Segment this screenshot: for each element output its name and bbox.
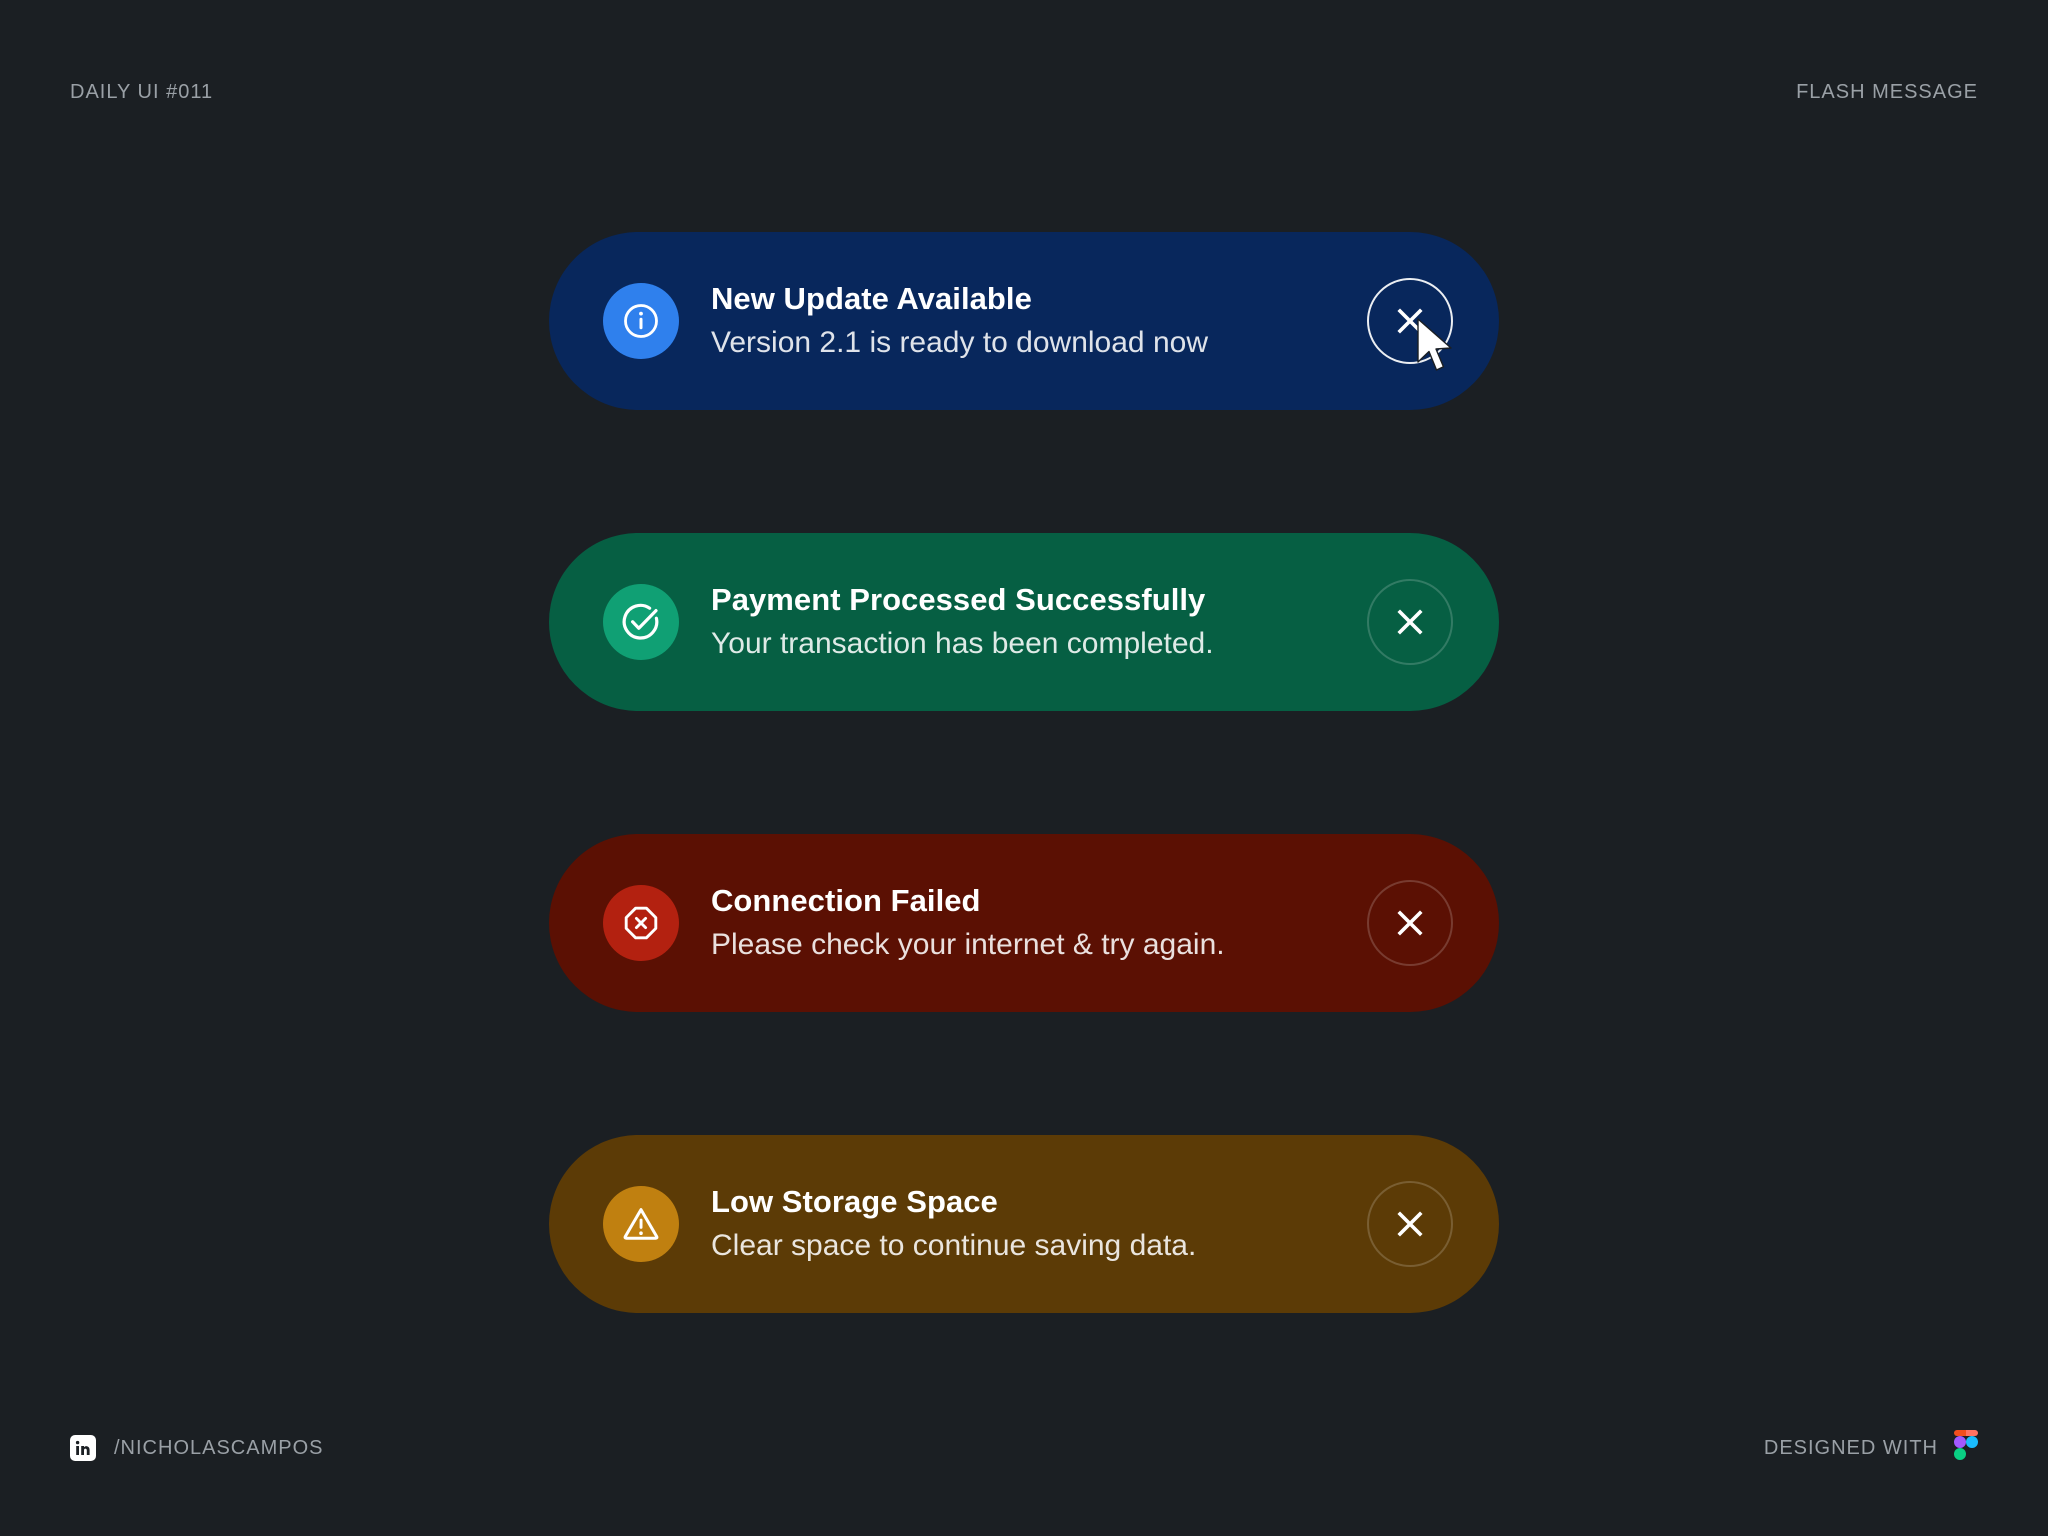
toast-success: Payment Processed Successfully Your tran… bbox=[549, 533, 1499, 711]
toast-text-group: New Update Available Version 2.1 is read… bbox=[711, 280, 1367, 362]
toast-text-group: Connection Failed Please check your inte… bbox=[711, 882, 1367, 964]
designed-with-label: DESIGNED WITH bbox=[1764, 1437, 1938, 1460]
toast-title: New Update Available bbox=[711, 280, 1367, 318]
toast-subtitle: Version 2.1 is ready to download now bbox=[711, 323, 1367, 362]
header: DAILY UI #011 FLASH MESSAGE bbox=[0, 78, 2048, 106]
toast-subtitle: Your transaction has been completed. bbox=[711, 624, 1367, 663]
linkedin-handle[interactable]: /NICHOLASCAMPOS bbox=[114, 1437, 323, 1460]
social-handle-group[interactable]: /NICHOLASCAMPOS bbox=[70, 1435, 323, 1461]
check-circle-icon bbox=[603, 584, 679, 660]
toast-title: Connection Failed bbox=[711, 882, 1367, 920]
flash-message-showcase: DAILY UI #011 FLASH MESSAGE New Update A… bbox=[0, 0, 2048, 1536]
toast-info: New Update Available Version 2.1 is read… bbox=[549, 232, 1499, 410]
toast-stack: New Update Available Version 2.1 is read… bbox=[549, 232, 1499, 1313]
close-icon bbox=[1393, 304, 1427, 338]
close-button[interactable] bbox=[1367, 579, 1453, 665]
toast-text-group: Payment Processed Successfully Your tran… bbox=[711, 581, 1367, 663]
info-circle-icon bbox=[603, 283, 679, 359]
warning-triangle-icon bbox=[603, 1186, 679, 1262]
toast-error: Connection Failed Please check your inte… bbox=[549, 834, 1499, 1012]
octagon-x-icon bbox=[603, 885, 679, 961]
toast-warning: Low Storage Space Clear space to continu… bbox=[549, 1135, 1499, 1313]
footer: /NICHOLASCAMPOS DESIGNED WITH bbox=[0, 1430, 2048, 1466]
close-button[interactable] bbox=[1367, 1181, 1453, 1267]
daily-ui-label: DAILY UI #011 bbox=[70, 81, 213, 104]
toast-text-group: Low Storage Space Clear space to continu… bbox=[711, 1183, 1367, 1265]
toast-title: Low Storage Space bbox=[711, 1183, 1367, 1221]
close-icon bbox=[1393, 605, 1427, 639]
close-icon bbox=[1393, 1207, 1427, 1241]
toast-subtitle: Clear space to continue saving data. bbox=[711, 1226, 1367, 1265]
page-title: FLASH MESSAGE bbox=[1796, 81, 1978, 104]
toast-subtitle: Please check your internet & try again. bbox=[711, 925, 1367, 964]
close-icon bbox=[1393, 906, 1427, 940]
toast-title: Payment Processed Successfully bbox=[711, 581, 1367, 619]
close-button[interactable] bbox=[1367, 880, 1453, 966]
designed-with-group: DESIGNED WITH bbox=[1764, 1430, 1978, 1466]
figma-logo-icon bbox=[1954, 1430, 1978, 1466]
linkedin-icon[interactable] bbox=[70, 1435, 96, 1461]
close-button[interactable] bbox=[1367, 278, 1453, 364]
